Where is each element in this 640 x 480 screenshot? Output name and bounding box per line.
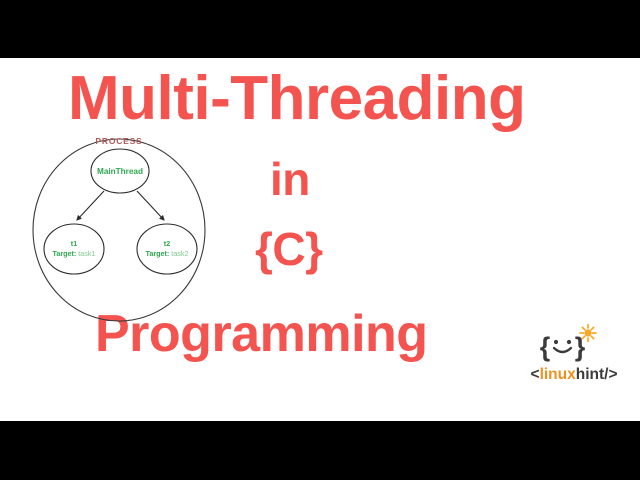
title-line-1: Multi-Threading [68,68,525,130]
node-thread-1-title: t1 [71,239,77,248]
title-line-3: {C} [255,226,323,272]
letterbox-top [0,0,640,58]
process-label: PROCESS [95,136,142,146]
smiley-face-icon: { } [540,332,586,362]
video-frame: Multi-Threading in {C} Programming MainT… [0,0,640,480]
node-main-thread-label: MainThread [97,167,143,176]
linuxhint-logo: { } <linuxhint/> [516,324,632,386]
edge-main-to-t1 [77,191,104,220]
logo-wordmark: <linuxhint/> [531,366,618,383]
letterbox-bottom [0,421,640,480]
node-thread-1-subtitle: Target: task1 [52,249,95,258]
svg-text:{: { [540,332,551,362]
title-line-2: in [270,156,310,202]
node-thread-2-title: t2 [164,239,170,248]
sparkle-icon [580,325,596,342]
thread-model-diagram: MainThread t1 Target: task1 t2 Target: t… [30,133,220,328]
slide-canvas: Multi-Threading in {C} Programming MainT… [0,58,640,421]
node-thread-2-subtitle: Target: task2 [145,249,188,258]
edge-main-to-t2 [137,191,164,220]
